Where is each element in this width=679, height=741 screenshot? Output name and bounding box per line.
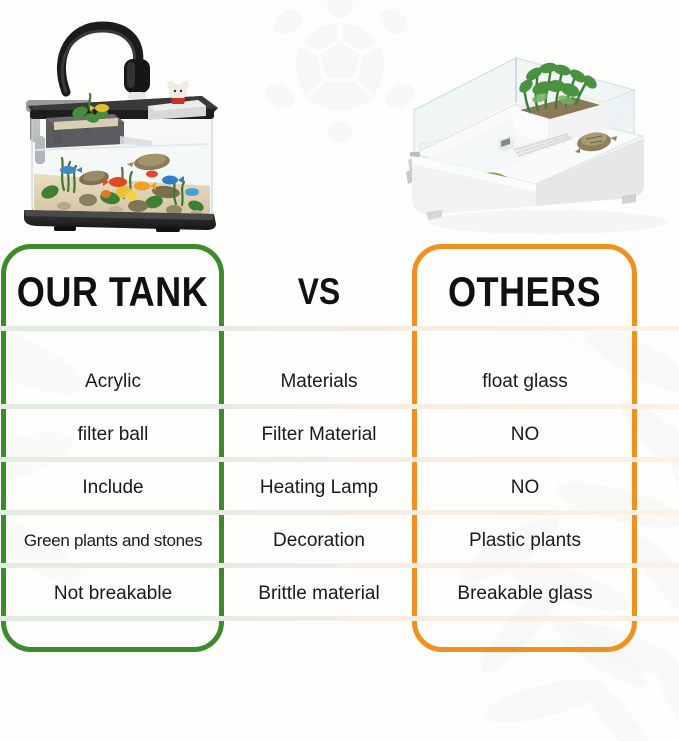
table-row: Acrylic Materials float glass — [0, 356, 679, 408]
others-value: float glass — [412, 356, 638, 408]
acrylic-turtle-tank-photo — [6, 14, 292, 232]
our-value: Not breakable — [0, 568, 226, 620]
others-value: NO — [412, 462, 638, 514]
others-value: NO — [412, 409, 638, 461]
others-header: OTHERS — [428, 266, 622, 318]
our-value: filter ball — [0, 409, 226, 461]
row-divider — [0, 616, 679, 621]
white-glass-turtle-tank-photo — [398, 44, 670, 236]
feature-label: Materials — [228, 356, 410, 408]
our-value: Include — [0, 462, 226, 514]
table-row: Green plants and stones Decoration Plast… — [0, 515, 679, 567]
table-row: filter ball Filter Material NO — [0, 409, 679, 461]
row-divider — [0, 326, 679, 331]
others-value: Breakable glass — [412, 568, 638, 620]
comparison-table: OUR TANK VS OTHERS Acrylic Materials flo… — [0, 244, 679, 659]
feature-label: Filter Material — [228, 409, 410, 461]
our-value: Acrylic — [0, 356, 226, 408]
table-row: Not breakable Brittle material Breakable… — [0, 568, 679, 620]
feature-label: Heating Lamp — [228, 462, 410, 514]
our-tank-header: OUR TANK — [16, 266, 210, 318]
vs-label: VS — [241, 266, 398, 318]
feature-label: Decoration — [228, 515, 410, 567]
others-value: Plastic plants — [412, 515, 638, 567]
feature-label: Brittle material — [228, 568, 410, 620]
table-row: Include Heating Lamp NO — [0, 462, 679, 514]
our-value: Green plants and stones — [0, 515, 226, 567]
